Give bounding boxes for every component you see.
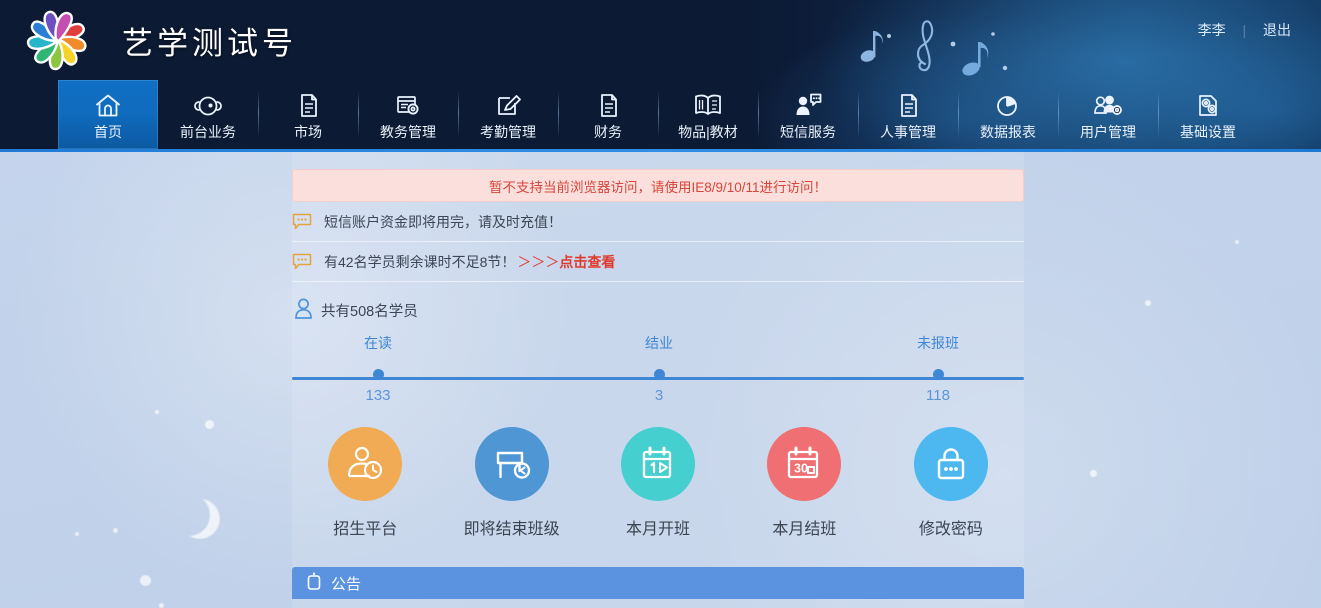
pie-chart-icon — [994, 91, 1022, 121]
nav-item-settings[interactable]: 基础设置 — [1158, 80, 1258, 149]
timeline-dot — [654, 369, 665, 380]
nav-item-finance[interactable]: 财务 — [558, 80, 658, 149]
nav-label: 首页 — [94, 125, 122, 139]
user-area: 李李 | 退出 — [1198, 20, 1291, 40]
window-gear-icon — [394, 91, 422, 121]
timeline-point-graduated[interactable]: 结业 3 — [599, 333, 719, 404]
nav-label: 基础设置 — [1180, 125, 1236, 139]
announcement-header[interactable]: 公告 — [292, 567, 1024, 599]
student-status-timeline: 在读 133 结业 3 未报班 118 — [292, 333, 1024, 409]
star-decoration — [75, 532, 79, 536]
star-decoration — [1235, 240, 1239, 244]
nav-item-materials[interactable]: 物品|教材 — [658, 80, 758, 149]
nav-item-market[interactable]: 市场 — [258, 80, 358, 149]
site-header: 艺学测试号 — [0, 0, 1321, 152]
nav-item-users[interactable]: 用户管理 — [1058, 80, 1158, 149]
timeline-dot — [373, 369, 384, 380]
megaphone-icon — [304, 571, 324, 595]
nav-item-attendance[interactable]: 考勤管理 — [458, 80, 558, 149]
settings-gear-icon — [1194, 91, 1222, 121]
headset-icon — [194, 91, 222, 121]
site-title: 艺学测试号 — [122, 18, 297, 63]
timeline-label: 结业 — [599, 333, 719, 353]
nav-label: 物品|教材 — [678, 125, 738, 139]
svg-text:30: 30 — [794, 462, 808, 476]
star-decoration — [1145, 300, 1151, 306]
alert-message-text: 短信账户资金即将用完，请及时充值！ — [324, 212, 562, 232]
person-chat-icon — [793, 91, 823, 121]
nav-label: 前台业务 — [180, 125, 236, 139]
announcement-title: 公告 — [331, 573, 361, 594]
timeline-point-enrolled[interactable]: 在读 133 — [318, 333, 438, 404]
star-decoration — [205, 420, 214, 429]
shortcut-label: 本月结班 — [731, 515, 877, 539]
star-decoration — [159, 603, 164, 608]
shortcut-classes-ended-this-month[interactable]: 30 本月结班 — [731, 427, 877, 539]
browser-warning-banner: 暂不支持当前浏览器访问，请使用IE8/9/10/11进行访问！ — [292, 169, 1024, 202]
shortcut-circle — [475, 427, 549, 501]
timeline-value: 133 — [318, 387, 438, 404]
rainbow-pinwheel-logo-icon[interactable] — [24, 9, 90, 71]
timeline-dot — [933, 369, 944, 380]
nav-label: 数据报表 — [980, 125, 1036, 139]
document-icon — [294, 91, 322, 121]
quick-shortcuts: 招生平台 即将结束班级 — [292, 427, 1024, 539]
timeline-value: 118 — [878, 387, 998, 404]
timeline-label: 未报班 — [878, 333, 998, 353]
nav-item-sms[interactable]: 短信服务 — [758, 80, 858, 149]
student-summary-text: 共有508名学员 — [321, 300, 418, 321]
student-summary: 共有508名学员 — [292, 298, 1024, 323]
nav-label: 市场 — [294, 125, 322, 139]
nav-item-hr[interactable]: 人事管理 — [858, 80, 958, 149]
star-decoration — [155, 410, 159, 414]
shortcut-circle — [914, 427, 988, 501]
logout-button[interactable]: 退出 — [1263, 22, 1291, 38]
document-icon — [594, 91, 622, 121]
header-underline — [0, 149, 1321, 152]
shortcut-label: 即将结束班级 — [438, 515, 584, 539]
nav-label: 考勤管理 — [480, 125, 536, 139]
shortcut-circle — [621, 427, 695, 501]
person-icon — [294, 298, 313, 323]
arrows-glyph: ＞＞＞ — [517, 254, 559, 270]
nav-item-home[interactable]: 首页 — [58, 80, 158, 149]
moon-decoration — [163, 489, 216, 542]
shortcut-ending-classes[interactable]: 即将结束班级 — [438, 427, 584, 539]
shortcut-label: 修改密码 — [878, 515, 1024, 539]
nav-item-front-desk[interactable]: 前台业务 — [158, 80, 258, 149]
shortcut-change-password[interactable]: 修改密码 — [878, 427, 1024, 539]
nav-label: 财务 — [594, 125, 622, 139]
timeline-label: 在读 — [318, 333, 438, 353]
alert-message-text: 有42名学员剩余课时不足8节！ — [324, 252, 515, 272]
music-notes-decoration — [845, 6, 1025, 86]
main-content: 暂不支持当前浏览器访问，请使用IE8/9/10/11进行访问！ 短信账户资金即将… — [292, 152, 1024, 608]
user-separator: | — [1242, 22, 1246, 38]
main-navigation: 首页 前台业务 市场 — [58, 80, 1258, 149]
shortcut-label: 招生平台 — [292, 515, 438, 539]
timeline-value: 3 — [599, 387, 719, 404]
timeline-point-unassigned[interactable]: 未报班 118 — [878, 333, 998, 404]
view-details-link[interactable]: ＞＞＞点击查看 — [517, 252, 615, 272]
nav-item-reports[interactable]: 数据报表 — [958, 80, 1058, 149]
home-icon — [94, 91, 122, 121]
alert-message-row[interactable]: 短信账户资金即将用完，请及时充值！ — [292, 202, 1024, 242]
open-book-icon — [693, 91, 723, 121]
star-decoration — [113, 528, 118, 533]
nav-label: 短信服务 — [780, 125, 836, 139]
shortcut-circle: 30 — [767, 427, 841, 501]
edit-pencil-icon — [494, 91, 522, 121]
document-icon — [894, 91, 922, 121]
speech-bubble-icon — [292, 253, 318, 270]
alert-message-row[interactable]: 有42名学员剩余课时不足8节！ ＞＞＞点击查看 — [292, 242, 1024, 282]
nav-item-academic[interactable]: 教务管理 — [358, 80, 458, 149]
shortcut-circle — [328, 427, 402, 501]
shortcut-recruitment-platform[interactable]: 招生平台 — [292, 427, 438, 539]
nav-label: 人事管理 — [880, 125, 936, 139]
star-decoration — [1090, 470, 1097, 477]
shortcut-label: 本月开班 — [585, 515, 731, 539]
star-decoration — [140, 575, 151, 586]
users-gear-icon — [1093, 91, 1123, 121]
speech-bubble-icon — [292, 213, 318, 230]
nav-label: 教务管理 — [380, 125, 436, 139]
student-stats-section: 共有508名学员 在读 133 结业 3 未报班 118 — [292, 282, 1024, 409]
user-name[interactable]: 李李 — [1198, 22, 1226, 38]
nav-label: 用户管理 — [1080, 125, 1136, 139]
shortcut-classes-started-this-month[interactable]: 本月开班 — [585, 427, 731, 539]
link-label: 点击查看 — [559, 254, 615, 270]
